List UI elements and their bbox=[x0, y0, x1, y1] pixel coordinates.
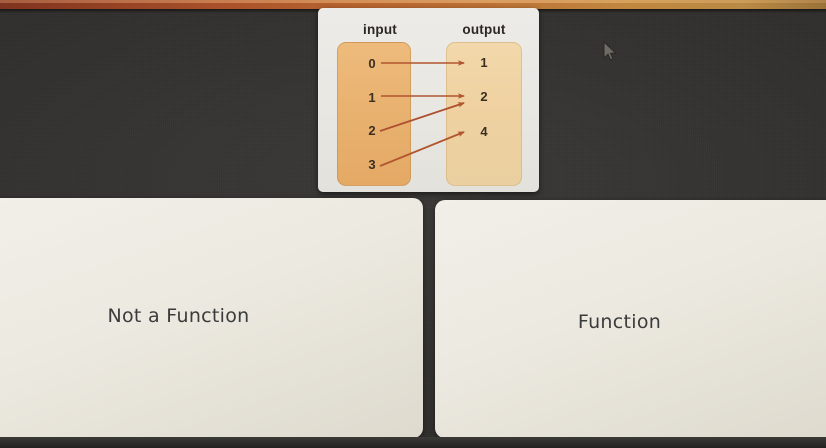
arrow-3-to-4 bbox=[380, 132, 464, 166]
answer-button-function[interactable]: Function bbox=[435, 200, 826, 438]
mouse-pointer-icon bbox=[603, 41, 619, 63]
answer-button-not-a-function[interactable]: Not a Function bbox=[0, 198, 423, 438]
bottom-strip bbox=[0, 437, 826, 448]
screen-root: input output 0 1 2 3 1 2 4 Not bbox=[0, 0, 826, 448]
answer-left-label: Not a Function bbox=[107, 305, 249, 327]
answer-right-label: Function bbox=[578, 311, 661, 333]
mapping-diagram-card: input output 0 1 2 3 1 2 4 bbox=[318, 8, 539, 192]
mapping-arrows bbox=[318, 8, 539, 192]
arrow-2-to-2 bbox=[380, 103, 464, 131]
top-accent-bar-sheen bbox=[0, 0, 826, 3]
